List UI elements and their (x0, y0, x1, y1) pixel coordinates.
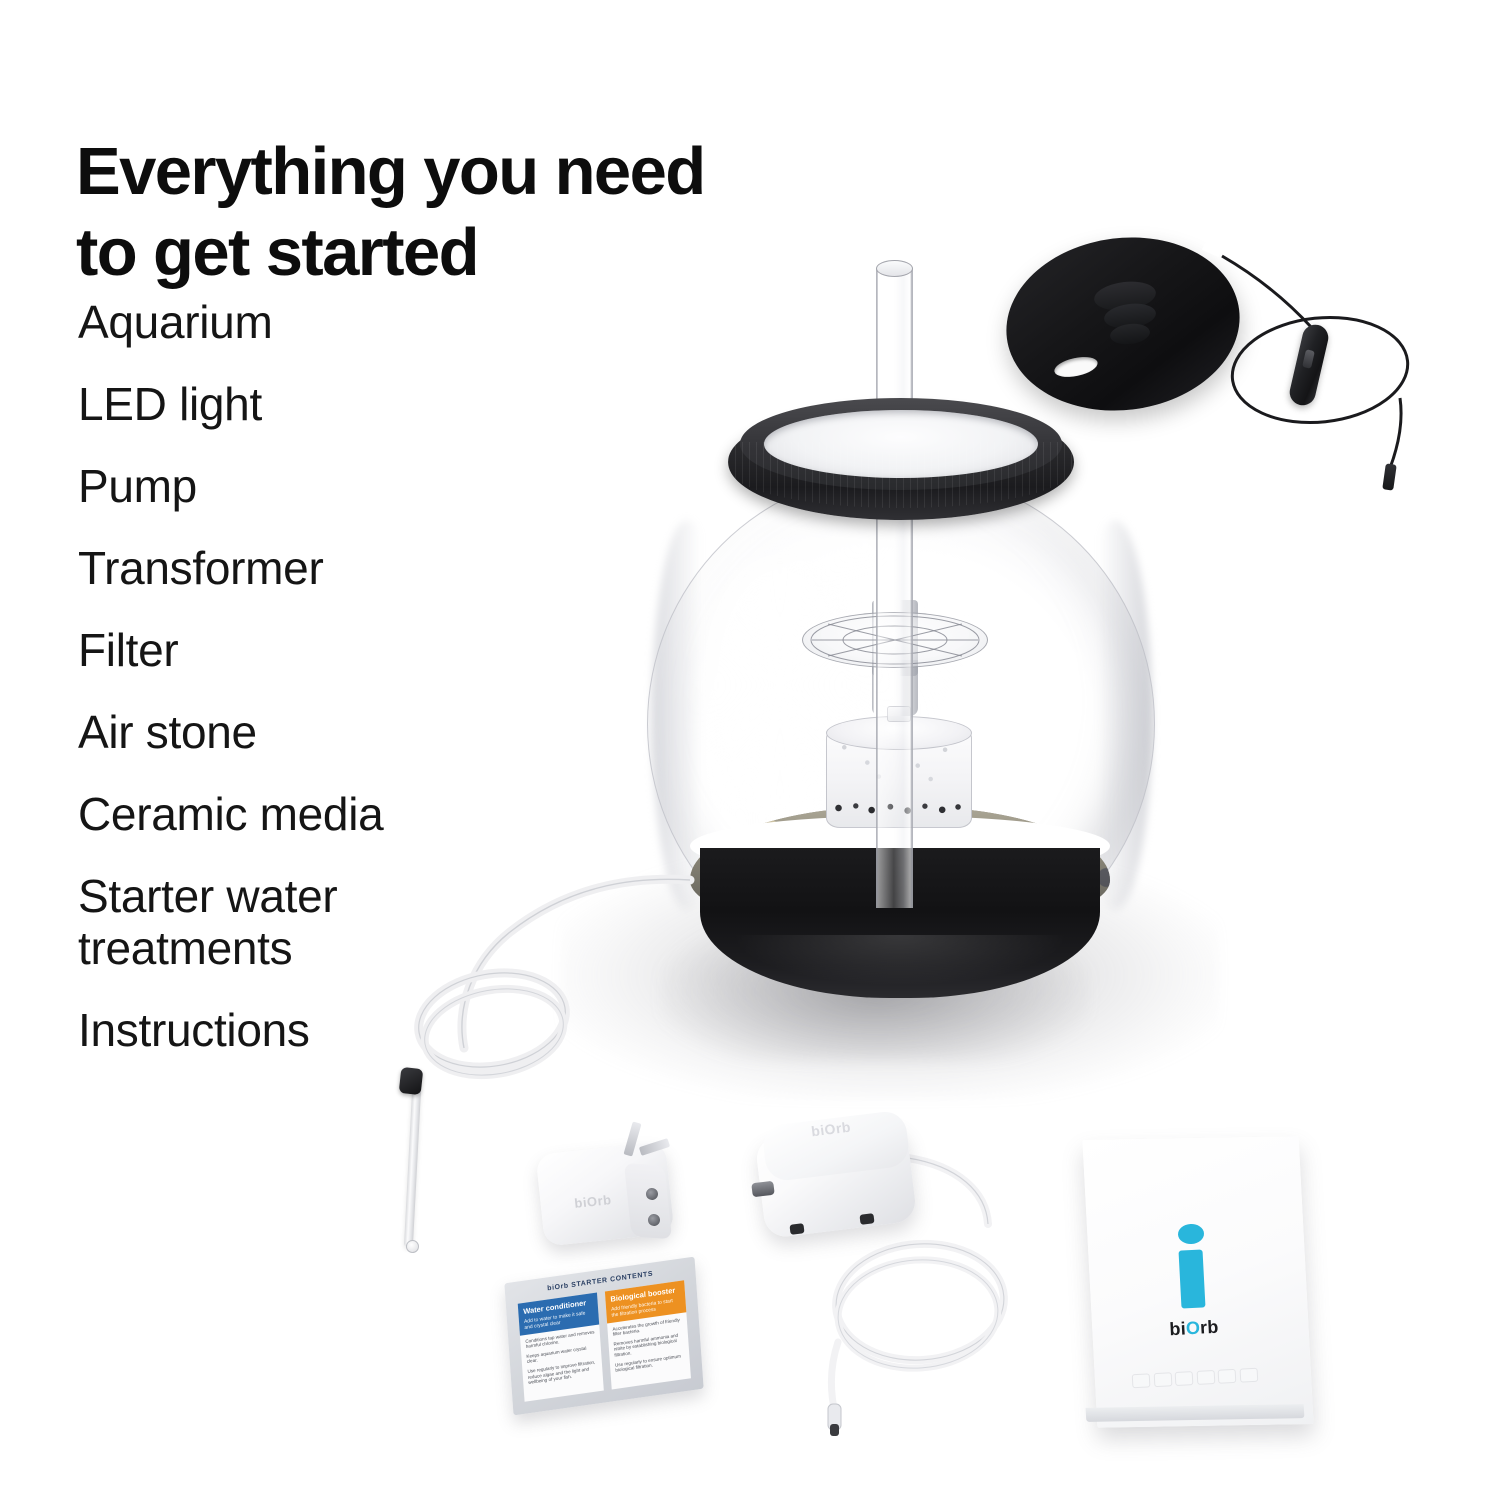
booklet-icon-5 (1218, 1369, 1237, 1384)
air-stone-connector (399, 1067, 424, 1095)
transformer-socket-face (624, 1163, 672, 1239)
biorb-i-logo-stem (1178, 1249, 1205, 1308)
booklet-icon-2 (1153, 1372, 1172, 1387)
sachet-water-conditioner: Water conditioner Add to water to make i… (518, 1293, 604, 1402)
product-scene: biOrb biOrb biOrb STARTER CONTENTS Water… (360, 220, 1480, 1490)
booklet-icon-3 (1175, 1371, 1194, 1386)
headline-line-1: Everything you need (76, 134, 705, 209)
air-pump-nozzle (751, 1181, 775, 1198)
booklet-icon-1 (1132, 1373, 1151, 1388)
air-pump-foot-1 (789, 1223, 804, 1235)
booklet-icon-4 (1196, 1370, 1215, 1385)
sachet-biological-booster: Biological booster Add friendly bacteria… (605, 1280, 691, 1389)
booklet-icon-6 (1240, 1368, 1259, 1383)
water-treatment-sachets: biOrb STARTER CONTENTS Water conditioner… (504, 1257, 703, 1416)
air-pump-foot-2 (859, 1213, 874, 1225)
infographic-canvas: Everything you need to get started Aquar… (0, 0, 1500, 1500)
